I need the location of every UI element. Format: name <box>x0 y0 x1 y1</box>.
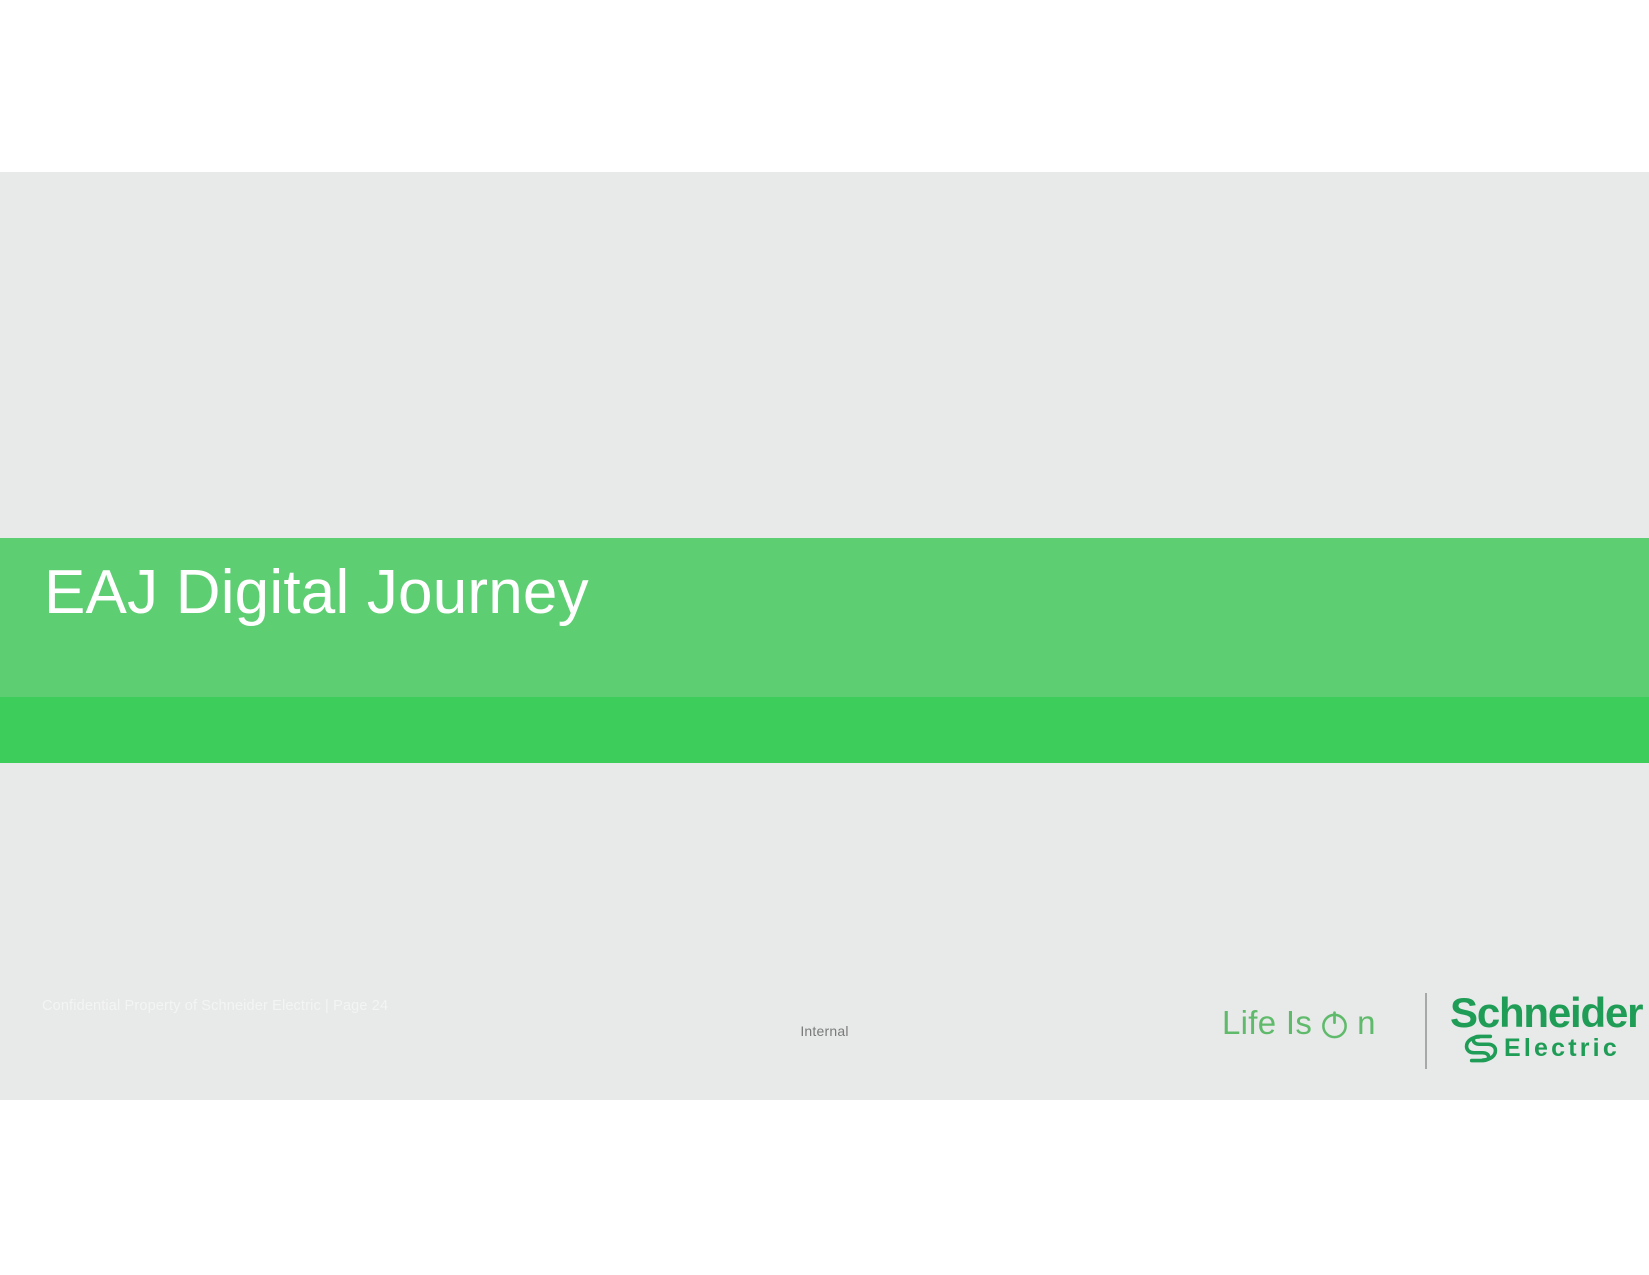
footer-confidential-notice: Confidential Property of Schneider Elect… <box>42 998 388 1014</box>
schneider-brandmark: Schneider Electric <box>1450 992 1630 1072</box>
slide-canvas: EAJ Digital Journey Confidential Propert… <box>0 172 1649 1100</box>
brand-sub-row: Electric <box>1464 1034 1620 1063</box>
brand-name: Schneider <box>1450 992 1642 1034</box>
title-band-accent <box>0 697 1649 763</box>
brand-sub-name: Electric <box>1504 1036 1620 1061</box>
schneider-electric-logo: Life Is n Schneider Electric <box>1222 990 1622 1076</box>
tagline-prefix: Life Is <box>1222 1004 1312 1042</box>
life-is-on-tagline: Life Is n <box>1222 1004 1376 1042</box>
tagline-suffix: n <box>1357 1004 1376 1042</box>
logo-divider <box>1425 993 1427 1069</box>
page-title: EAJ Digital Journey <box>44 560 1444 627</box>
schneider-swirl-icon <box>1464 1034 1498 1063</box>
power-icon <box>1319 1009 1350 1040</box>
